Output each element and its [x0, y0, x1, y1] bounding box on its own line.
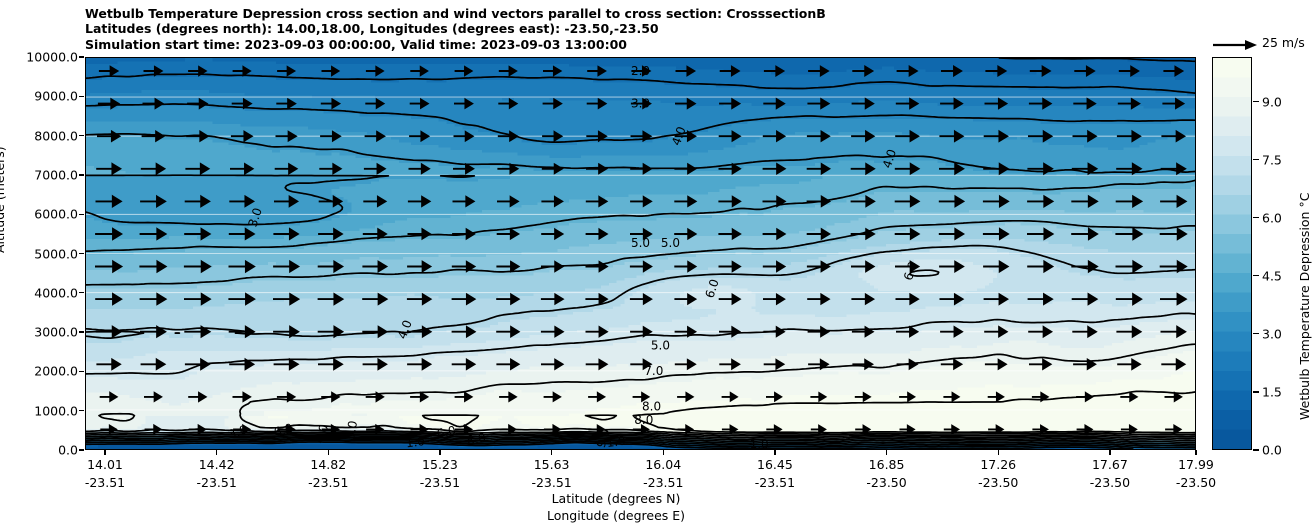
colorbar-tick-mark — [1253, 333, 1259, 334]
x-tick-label-lat: 17.67 — [1065, 457, 1155, 472]
contour-label: 8.0 — [642, 400, 661, 414]
y-tick-mark — [79, 449, 84, 450]
y-tick-label: 5000.0 — [0, 246, 78, 261]
x-tick-label-lat: 16.45 — [730, 457, 820, 472]
x-axis-label-lon: Longitude (degrees E) — [416, 508, 816, 523]
title-line-3: Simulation start time: 2023-09-03 00:00:… — [85, 37, 1185, 52]
colorbar-tick-mark — [1253, 391, 1259, 392]
x-tick-mark — [216, 450, 217, 455]
y-tick-mark — [79, 214, 84, 215]
x-tick-label-lat: 16.04 — [618, 457, 708, 472]
contour-label: 5.0 — [631, 236, 650, 250]
x-tick-label-lat: 14.42 — [172, 457, 262, 472]
y-tick-label: 1000.0 — [0, 403, 78, 418]
y-tick-mark — [79, 135, 84, 136]
contour-label: 1.0 — [750, 438, 769, 449]
colorbar-tick-label: 9.0 — [1262, 94, 1282, 109]
x-tick-mark — [104, 450, 105, 455]
y-tick-mark — [79, 174, 84, 175]
colorbar-tick-mark — [1253, 217, 1259, 218]
arrow-right-icon — [1212, 38, 1258, 52]
x-tick-label-lon: -23.50 — [842, 475, 932, 490]
x-tick-label-lat: 14.82 — [283, 457, 373, 472]
x-tick-label-lon: -23.51 — [60, 475, 150, 490]
y-tick-label: 9000.0 — [0, 89, 78, 104]
colorbar-tick-mark — [1253, 449, 1259, 450]
colorbar-tick-mark — [1253, 101, 1259, 102]
colorbar-gradient — [1213, 58, 1251, 449]
colorbar-tick-label: 1.5 — [1262, 384, 1282, 399]
x-tick-label-lon: -23.50 — [1065, 475, 1155, 490]
y-tick-label: 4000.0 — [0, 285, 78, 300]
x-tick-mark — [1109, 450, 1110, 455]
colorbar-tick-label: 0.0 — [1262, 443, 1282, 458]
contour-label: 1.0 — [606, 434, 627, 449]
colorbar-tick-mark — [1253, 275, 1259, 276]
contour-label: 5.0 — [651, 339, 670, 353]
colorbar-tick-label: 6.0 — [1262, 210, 1282, 225]
y-tick-label: 2000.0 — [0, 364, 78, 379]
quiver-key-label: 25 m/s — [1262, 35, 1305, 50]
x-axis-label-lat: Latitude (degrees N) — [416, 491, 816, 506]
x-tick-label-lat: 15.23 — [395, 457, 485, 472]
x-tick-mark — [328, 450, 329, 455]
y-tick-label: 10000.0 — [0, 50, 78, 65]
y-axis-label: Altitude (meters) — [0, 146, 7, 253]
y-tick-mark — [79, 410, 84, 411]
cross-section-plot: 2.02.03.03.03.03.04.04.04.04.04.04.05.05… — [85, 57, 1196, 450]
x-tick-label-lat: 15.63 — [507, 457, 597, 472]
y-tick-mark — [79, 96, 84, 97]
y-tick-label: 0.0 — [0, 443, 78, 458]
x-tick-label-lon: -23.51 — [395, 475, 485, 490]
figure-title: Wetbulb Temperature Depression cross sec… — [85, 6, 1185, 52]
title-line-1: Wetbulb Temperature Depression cross sec… — [85, 6, 1185, 21]
colorbar-tick-mark — [1253, 159, 1259, 160]
figure-root: Wetbulb Temperature Depression cross sec… — [0, 0, 1312, 526]
y-tick-label: 7000.0 — [0, 167, 78, 182]
y-tick-mark — [79, 56, 84, 57]
x-tick-mark — [998, 450, 999, 455]
x-tick-mark — [663, 450, 664, 455]
colorbar-tick-label: 3.0 — [1262, 326, 1282, 341]
plot-inner: 2.02.03.03.03.03.04.04.04.04.04.04.05.05… — [86, 58, 1195, 449]
x-tick-label-lon: -23.50 — [953, 475, 1043, 490]
x-tick-label-lon: -23.51 — [172, 475, 262, 490]
x-tick-label-lon: -23.50 — [1151, 475, 1241, 490]
y-tick-mark — [79, 253, 84, 254]
y-tick-label: 8000.0 — [0, 128, 78, 143]
contour-label: 5.0 — [661, 236, 680, 250]
x-tick-label-lon: -23.51 — [618, 475, 708, 490]
x-tick-mark — [886, 450, 887, 455]
x-tick-mark — [774, 450, 775, 455]
colorbar-label: Wetbulb Temperature Depression °C — [1297, 193, 1312, 420]
x-tick-label-lat: 17.99 — [1151, 457, 1241, 472]
x-tick-label-lon: -23.51 — [507, 475, 597, 490]
x-tick-mark — [439, 450, 440, 455]
title-line-2: Latitudes (degrees north): 14.00,18.00, … — [85, 21, 1185, 36]
contour-label: 8.0 — [634, 413, 653, 427]
x-tick-mark — [1195, 450, 1196, 455]
x-tick-label-lat: 14.01 — [60, 457, 150, 472]
x-tick-label-lon: -23.51 — [730, 475, 820, 490]
y-tick-mark — [79, 292, 84, 293]
contour-label: 1.0 — [405, 434, 426, 449]
colorbar — [1212, 57, 1252, 450]
x-tick-mark — [551, 450, 552, 455]
colorbar-tick-label: 4.5 — [1262, 268, 1282, 283]
y-tick-mark — [79, 331, 84, 332]
x-tick-label-lat: 16.85 — [842, 457, 932, 472]
y-tick-mark — [79, 371, 84, 372]
x-tick-label-lon: -23.51 — [283, 475, 373, 490]
colorbar-tick-label: 7.5 — [1262, 152, 1282, 167]
y-tick-label: 6000.0 — [0, 207, 78, 222]
x-tick-label-lat: 17.26 — [953, 457, 1043, 472]
plot-canvas: 2.02.03.03.03.03.04.04.04.04.04.04.05.05… — [86, 58, 1195, 449]
quiver-key: 25 m/s — [1212, 36, 1312, 56]
y-tick-label: 3000.0 — [0, 325, 78, 340]
